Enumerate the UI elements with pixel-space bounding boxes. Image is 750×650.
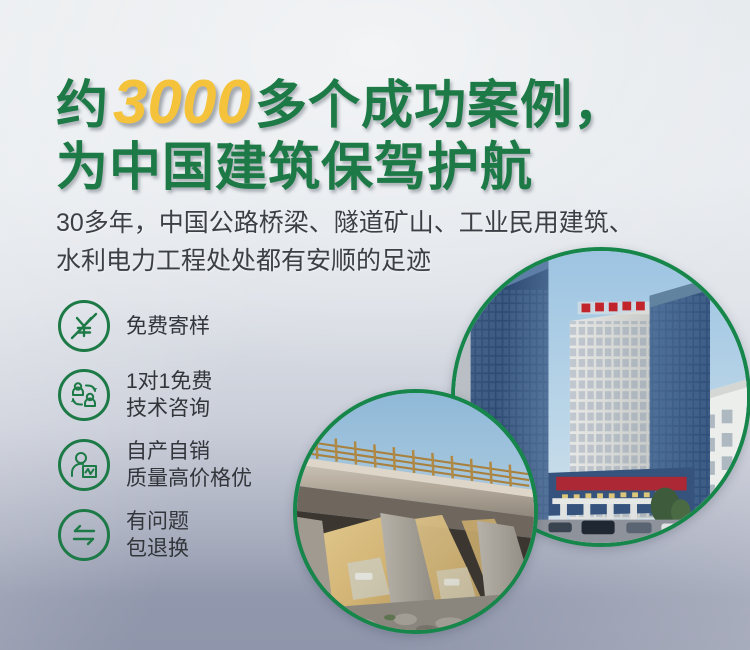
feature-item-return-exchange-text: 有问题 包退换: [126, 508, 189, 562]
free-sample-icon: [58, 300, 110, 352]
feature-list: 免费寄样: [58, 300, 252, 578]
bridge-photo: [293, 389, 538, 634]
one-to-one-consult-icon-glyph: [67, 378, 101, 412]
feature-item-free-sample-text: 免费寄样: [126, 313, 210, 340]
feature-line-2: 质量高价格优: [126, 465, 252, 492]
subtitle: 30多年，中国公路桥梁、隧道矿山、工业民用建筑、 水利电力工程处处都有安顺的足迹: [56, 204, 716, 280]
feature-item-one-to-one-consult-text: 1对1免费 技术咨询: [126, 368, 212, 422]
feature-line-1: 自产自销: [126, 440, 210, 463]
headline-number: 3000: [109, 68, 255, 137]
feature-item-one-to-one-consult: 1对1免费 技术咨询: [58, 368, 252, 422]
subtitle-line-2: 水利电力工程处处都有安顺的足迹: [56, 242, 716, 280]
promo-banner: 约3000多个成功案例， 为中国建筑保驾护航 30多年，中国公路桥梁、隧道矿山、…: [0, 0, 750, 650]
feature-line-2: 技术咨询: [126, 395, 212, 422]
headline-line-2: 为中国建筑保驾护航: [56, 137, 736, 199]
headline-line-1: 约3000多个成功案例，: [56, 72, 736, 137]
self-produce-sell-icon: [58, 439, 110, 491]
feature-line-1: 有问题: [126, 510, 189, 533]
bridge-photo-illustration: [297, 393, 534, 630]
feature-item-self-produce-sell-text: 自产自销 质量高价格优: [126, 438, 252, 492]
feature-line-1: 1对1免费: [126, 370, 212, 393]
feature-item-self-produce-sell: 自产自销 质量高价格优: [58, 438, 252, 492]
return-exchange-icon: [58, 509, 110, 561]
feature-line-1: 免费寄样: [126, 315, 210, 338]
feature-item-return-exchange: 有问题 包退换: [58, 508, 252, 562]
headline: 约3000多个成功案例， 为中国建筑保驾护航: [56, 72, 736, 199]
headline-prefix: 约: [56, 77, 109, 135]
feature-item-free-sample: 免费寄样: [58, 300, 252, 352]
subtitle-line-1: 30多年，中国公路桥梁、隧道矿山、工业民用建筑、: [56, 204, 716, 242]
feature-line-2: 包退换: [126, 535, 189, 562]
headline-suffix: 多个成功案例，: [255, 77, 626, 135]
return-exchange-icon-glyph: [67, 518, 101, 552]
free-sample-icon-glyph: [67, 309, 101, 343]
self-produce-sell-icon-glyph: [67, 448, 101, 482]
one-to-one-consult-icon: [58, 369, 110, 421]
